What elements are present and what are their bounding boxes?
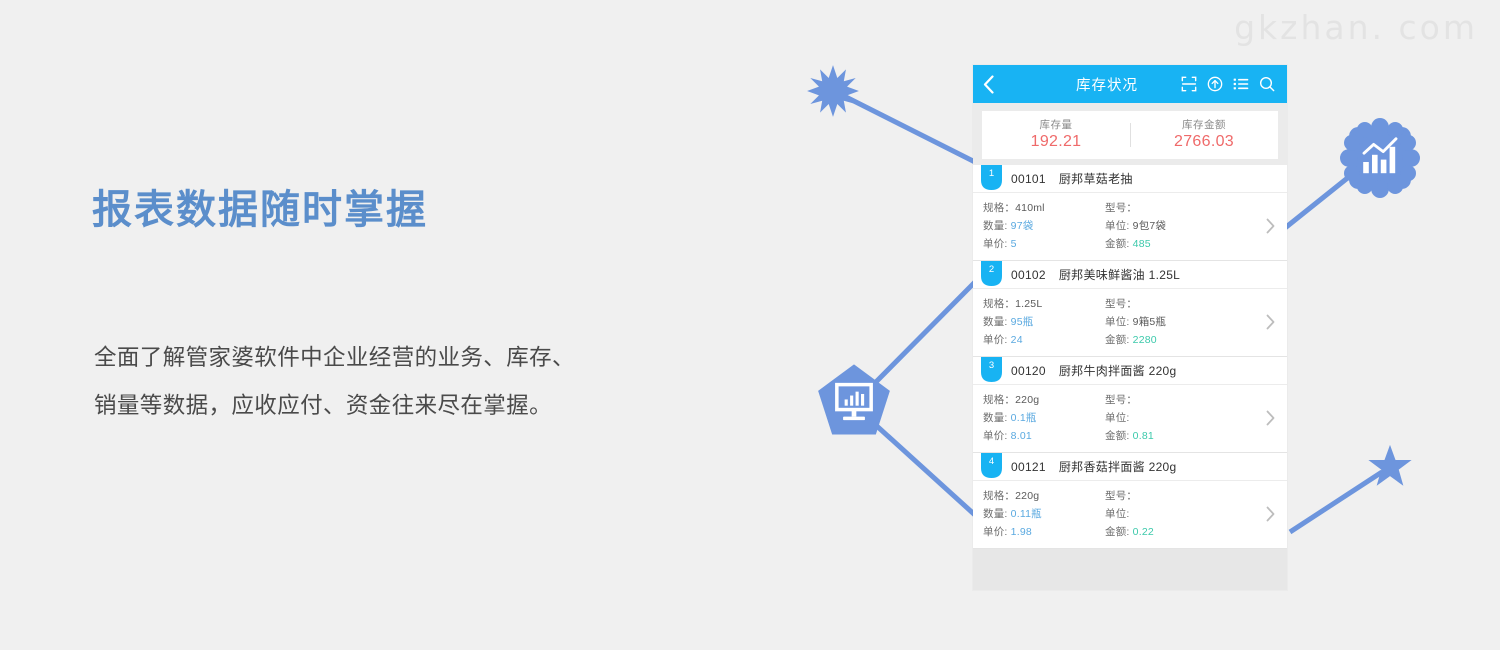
circle-up-arrow-icon[interactable] xyxy=(1207,76,1223,92)
app-topbar: 库存状况 xyxy=(973,65,1287,103)
field-spec: 规格：220g xyxy=(983,487,1105,505)
field-label: 单位: xyxy=(1105,316,1130,328)
item-fields-left: 规格：1.25L 数量: 95瓶 单价: 24 xyxy=(973,295,1105,349)
scan-frame-icon[interactable] xyxy=(1181,76,1197,92)
field-amount: 金额: 2280 xyxy=(1105,331,1235,349)
field-value: 0.22 xyxy=(1133,526,1154,538)
item-fields: 规格：410ml 数量: 97袋 单价: 5 型号： 单位: 9包7袋 金额: … xyxy=(973,199,1253,253)
rank-number: 3 xyxy=(981,360,1002,372)
item-name: 厨邦牛肉拌面酱 220g xyxy=(1059,362,1177,379)
search-icon[interactable] xyxy=(1259,76,1275,92)
field-value: 9包7袋 xyxy=(1133,220,1166,232)
item-name: 厨邦草菇老抽 xyxy=(1059,170,1133,187)
site-watermark: gkzhan. com xyxy=(1234,8,1478,47)
rank-number: 1 xyxy=(981,168,1002,180)
field-label: 单价: xyxy=(983,430,1008,442)
field-label: 型号： xyxy=(1105,202,1137,214)
list-item-body: 规格：1.25L 数量: 95瓶 单价: 24 型号： 单位: 9箱5瓶 金额:… xyxy=(973,289,1287,357)
item-detail-arrow[interactable] xyxy=(1253,506,1287,522)
item-detail-arrow[interactable] xyxy=(1253,410,1287,426)
list-item-header: 4 00121 厨邦香菇拌面酱 220g xyxy=(973,453,1287,481)
field-label: 数量: xyxy=(983,508,1008,520)
field-value: 410ml xyxy=(1015,202,1045,214)
topbar-icon-group xyxy=(1181,76,1277,92)
field-label: 数量: xyxy=(983,412,1008,424)
field-value: 0.81 xyxy=(1133,430,1154,442)
field-value: 24 xyxy=(1011,334,1023,346)
field-qty: 数量: 97袋 xyxy=(983,217,1105,235)
field-label: 数量: xyxy=(983,220,1008,232)
field-unit: 单位: 9包7袋 xyxy=(1105,217,1235,235)
rank-badge: 2 xyxy=(981,261,1002,286)
field-label: 型号： xyxy=(1105,490,1137,502)
list-item-header: 2 00102 厨邦美味鲜酱油 1.25L xyxy=(973,261,1287,289)
burst-star-icon xyxy=(806,64,860,118)
field-label: 单位: xyxy=(1105,508,1130,520)
star-icon xyxy=(1367,443,1413,489)
item-fields: 规格：220g 数量: 0.11瓶 单价: 1.98 型号： 单位: 金额: 0… xyxy=(973,487,1253,541)
item-name: 厨邦香菇拌面酱 220g xyxy=(1059,458,1177,475)
summary-stock-amount: 库存金额 2766.03 xyxy=(1130,118,1278,152)
list-item[interactable]: 3 00120 厨邦牛肉拌面酱 220g 规格：220g 数量: 0.1瓶 单价… xyxy=(973,357,1287,453)
item-fields-right: 型号： 单位: 9包7袋 金额: 485 xyxy=(1105,199,1235,253)
item-fields: 规格：1.25L 数量: 95瓶 单价: 24 型号： 单位: 9箱5瓶 金额:… xyxy=(973,295,1253,349)
field-qty: 数量: 95瓶 xyxy=(983,313,1105,331)
field-price: 单价: 8.01 xyxy=(983,427,1105,445)
item-fields-left: 规格：410ml 数量: 97袋 单价: 5 xyxy=(973,199,1105,253)
summary-stock-qty: 库存量 192.21 xyxy=(982,118,1130,152)
field-unit: 单位: xyxy=(1105,505,1235,523)
list-icon[interactable] xyxy=(1233,76,1249,92)
rank-number: 2 xyxy=(981,264,1002,276)
list-item-body: 规格：410ml 数量: 97袋 单价: 5 型号： 单位: 9包7袋 金额: … xyxy=(973,193,1287,261)
field-unit: 单位: xyxy=(1105,409,1235,427)
field-value: 1.98 xyxy=(1011,526,1032,538)
item-fields-right: 型号： 单位: 9箱5瓶 金额: 2280 xyxy=(1105,295,1235,349)
summary-label: 库存金额 xyxy=(1130,118,1278,132)
topbar-title: 库存状况 xyxy=(1005,74,1181,95)
page-title: 报表数据随时掌握 xyxy=(92,186,632,234)
field-amount: 金额: 0.81 xyxy=(1105,427,1235,445)
rank-badge: 4 xyxy=(981,453,1002,478)
field-label: 单价: xyxy=(983,334,1008,346)
rank-badge: 1 xyxy=(981,165,1002,190)
list-item[interactable]: 1 00101 厨邦草菇老抽 规格：410ml 数量: 97袋 单价: 5 型号… xyxy=(973,165,1287,261)
item-code: 00101 xyxy=(1011,172,1046,186)
item-fields: 规格：220g 数量: 0.1瓶 单价: 8.01 型号： 单位: 金额: 0.… xyxy=(973,391,1253,445)
field-value: 1.25L xyxy=(1015,298,1042,310)
item-detail-arrow[interactable] xyxy=(1253,314,1287,330)
summary-value: 2766.03 xyxy=(1130,132,1278,152)
field-label: 金额: xyxy=(1105,334,1130,346)
item-fields-right: 型号： 单位: 金额: 0.22 xyxy=(1105,487,1235,541)
field-qty: 数量: 0.1瓶 xyxy=(983,409,1105,427)
item-detail-arrow[interactable] xyxy=(1253,218,1287,234)
rank-badge: 3 xyxy=(981,357,1002,382)
body-paragraph: 全面了解管家婆软件中企业经营的业务、库存、销量等数据，应收应付、资金往来尽在掌握… xyxy=(94,334,594,430)
field-label: 规格： xyxy=(983,298,1015,310)
summary-card: 库存量 192.21 库存金额 2766.03 xyxy=(982,111,1278,159)
field-label: 单位: xyxy=(1105,220,1130,232)
monitor-bar-chart-icon xyxy=(815,362,893,440)
field-label: 金额: xyxy=(1105,430,1130,442)
field-value: 2280 xyxy=(1133,334,1157,346)
field-model: 型号： xyxy=(1105,391,1235,409)
field-price: 单价: 24 xyxy=(983,331,1105,349)
list-item-header: 3 00120 厨邦牛肉拌面酱 220g xyxy=(973,357,1287,385)
field-unit: 单位: 9箱5瓶 xyxy=(1105,313,1235,331)
list-item[interactable]: 2 00102 厨邦美味鲜酱油 1.25L 规格：1.25L 数量: 95瓶 单… xyxy=(973,261,1287,357)
five-point-star-decoration xyxy=(1367,443,1413,489)
field-label: 规格： xyxy=(983,394,1015,406)
copy-block: 报表数据随时掌握 全面了解管家婆软件中企业经营的业务、库存、销量等数据，应收应付… xyxy=(92,186,632,234)
field-label: 型号： xyxy=(1105,394,1137,406)
item-fields-left: 规格：220g 数量: 0.1瓶 单价: 8.01 xyxy=(973,391,1105,445)
list-item-body: 规格：220g 数量: 0.11瓶 单价: 1.98 型号： 单位: 金额: 0… xyxy=(973,481,1287,549)
chevron-right-icon xyxy=(1266,314,1275,330)
field-spec: 规格：410ml xyxy=(983,199,1105,217)
field-value: 220g xyxy=(1015,394,1039,406)
phone-mockup: 库存状况 xyxy=(973,65,1287,590)
list-item[interactable]: 4 00121 厨邦香菇拌面酱 220g 规格：220g 数量: 0.11瓶 单… xyxy=(973,453,1287,549)
page-root: gkzhan. com xyxy=(0,0,1500,650)
field-value: 9箱5瓶 xyxy=(1133,316,1166,328)
rank-number: 4 xyxy=(981,456,1002,468)
field-label: 单价: xyxy=(983,526,1008,538)
field-value: 8.01 xyxy=(1011,430,1032,442)
field-price: 单价: 1.98 xyxy=(983,523,1105,541)
field-value: 485 xyxy=(1133,238,1151,250)
item-name: 厨邦美味鲜酱油 1.25L xyxy=(1059,266,1180,283)
summary-label: 库存量 xyxy=(982,118,1130,132)
item-code: 00120 xyxy=(1011,364,1046,378)
field-amount: 金额: 0.22 xyxy=(1105,523,1235,541)
field-label: 金额: xyxy=(1105,238,1130,250)
field-model: 型号： xyxy=(1105,199,1235,217)
chevron-right-icon xyxy=(1266,410,1275,426)
item-fields-left: 规格：220g 数量: 0.11瓶 单价: 1.98 xyxy=(973,487,1105,541)
field-label: 规格： xyxy=(983,490,1015,502)
summary-card-wrap: 库存量 192.21 库存金额 2766.03 xyxy=(973,103,1287,165)
field-label: 型号： xyxy=(1105,298,1137,310)
list-empty-tail xyxy=(973,549,1287,590)
item-fields-right: 型号： 单位: 金额: 0.81 xyxy=(1105,391,1235,445)
burst-star-decoration xyxy=(806,64,860,118)
field-spec: 规格：220g xyxy=(983,391,1105,409)
chevron-right-icon xyxy=(1266,506,1275,522)
field-price: 单价: 5 xyxy=(983,235,1105,253)
field-spec: 规格：1.25L xyxy=(983,295,1105,313)
field-amount: 金额: 485 xyxy=(1105,235,1235,253)
pentagon-monitor-decoration xyxy=(815,362,893,440)
scalloped-chart-decoration xyxy=(1340,118,1420,198)
field-value: 5 xyxy=(1011,238,1017,250)
field-value: 95瓶 xyxy=(1011,316,1034,328)
item-code: 00102 xyxy=(1011,268,1046,282)
back-button[interactable] xyxy=(983,75,1005,94)
chevron-right-icon xyxy=(1266,218,1275,234)
field-label: 单位: xyxy=(1105,412,1130,424)
field-value: 0.11瓶 xyxy=(1011,508,1042,520)
field-qty: 数量: 0.11瓶 xyxy=(983,505,1105,523)
field-label: 数量: xyxy=(983,316,1008,328)
field-label: 金额: xyxy=(1105,526,1130,538)
field-model: 型号： xyxy=(1105,487,1235,505)
list-item-body: 规格：220g 数量: 0.1瓶 单价: 8.01 型号： 单位: 金额: 0.… xyxy=(973,385,1287,453)
field-label: 规格： xyxy=(983,202,1015,214)
field-model: 型号： xyxy=(1105,295,1235,313)
list-item-header: 1 00101 厨邦草菇老抽 xyxy=(973,165,1287,193)
item-code: 00121 xyxy=(1011,460,1046,474)
summary-value: 192.21 xyxy=(982,132,1130,152)
field-label: 单价: xyxy=(983,238,1008,250)
field-value: 0.1瓶 xyxy=(1011,412,1037,424)
field-value: 220g xyxy=(1015,490,1039,502)
field-value: 97袋 xyxy=(1011,220,1034,232)
chevron-left-icon xyxy=(983,75,994,94)
inventory-list: 1 00101 厨邦草菇老抽 规格：410ml 数量: 97袋 单价: 5 型号… xyxy=(973,165,1287,590)
bar-line-chart-icon xyxy=(1340,118,1420,198)
